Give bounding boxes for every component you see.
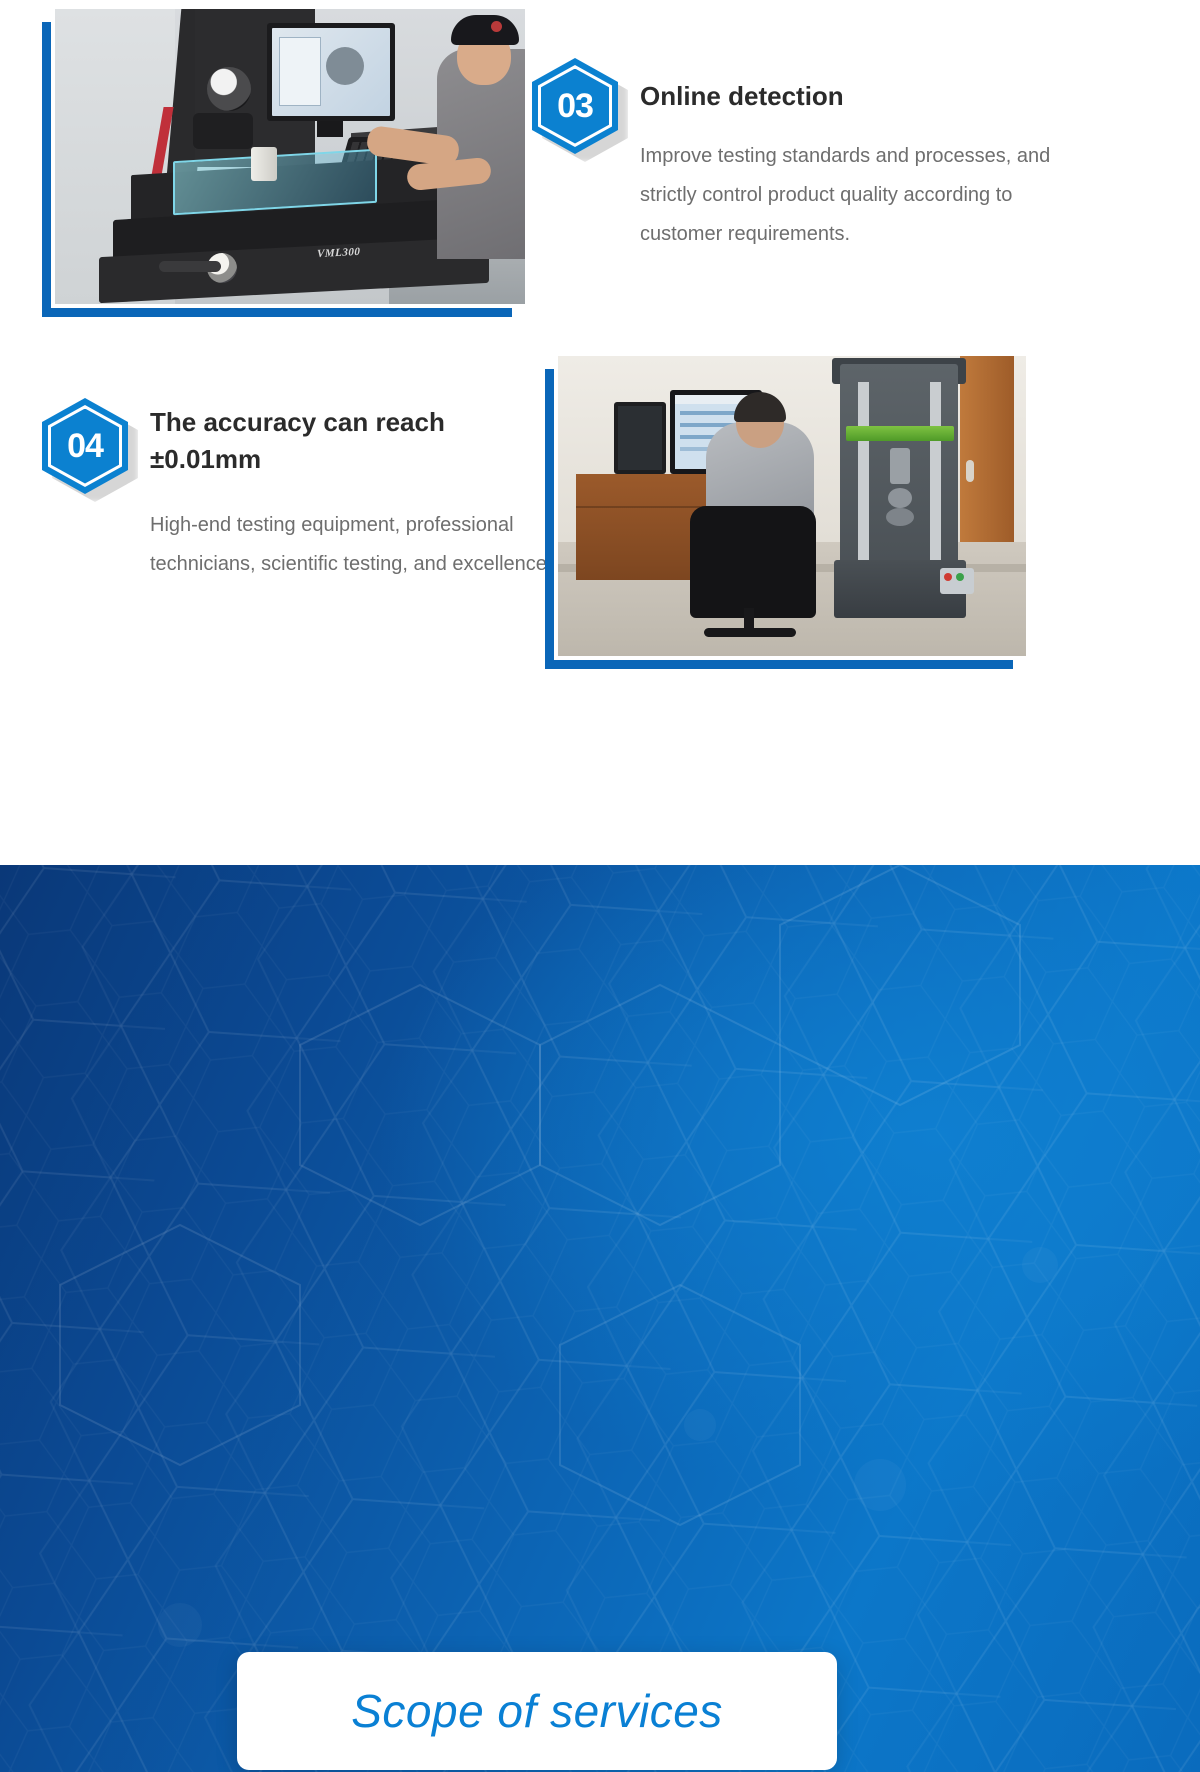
hexagon-pattern-background xyxy=(0,865,1200,1772)
scope-of-services-section: Scope of services 01 CNC processing of e… xyxy=(0,865,1200,1772)
photo-online-detection: VML300 xyxy=(42,22,512,317)
feature-body: Improve testing standards and processes,… xyxy=(640,137,1092,254)
photo-image-tensile-testing xyxy=(558,356,1026,656)
hexagon-badge-04: 04 xyxy=(42,398,128,494)
feature-body: High-end testing equipment, professional… xyxy=(150,506,562,584)
feature-03: 03 Online detection Improve testing stan… xyxy=(532,58,1092,254)
photo-accuracy-testing xyxy=(545,369,1013,669)
feature-title: The accuracy can reach ±0.01mm xyxy=(150,398,562,478)
photo-image-optical-measuring: VML300 xyxy=(55,9,525,304)
scope-heading: Scope of services xyxy=(351,1684,723,1738)
badge-number: 03 xyxy=(532,58,618,154)
badge-number: 04 xyxy=(42,398,128,494)
features-section: VML300 03 Online detection xyxy=(0,0,1200,865)
feature-04: 04 The accuracy can reach ±0.01mm High-e… xyxy=(42,398,562,584)
feature-title: Online detection xyxy=(640,58,1092,115)
marketing-page: VML300 03 Online detection xyxy=(0,0,1200,1772)
scope-title-card: Scope of services xyxy=(237,1652,837,1770)
machine-label: VML300 xyxy=(317,246,360,260)
hexagon-badge-03: 03 xyxy=(532,58,618,154)
